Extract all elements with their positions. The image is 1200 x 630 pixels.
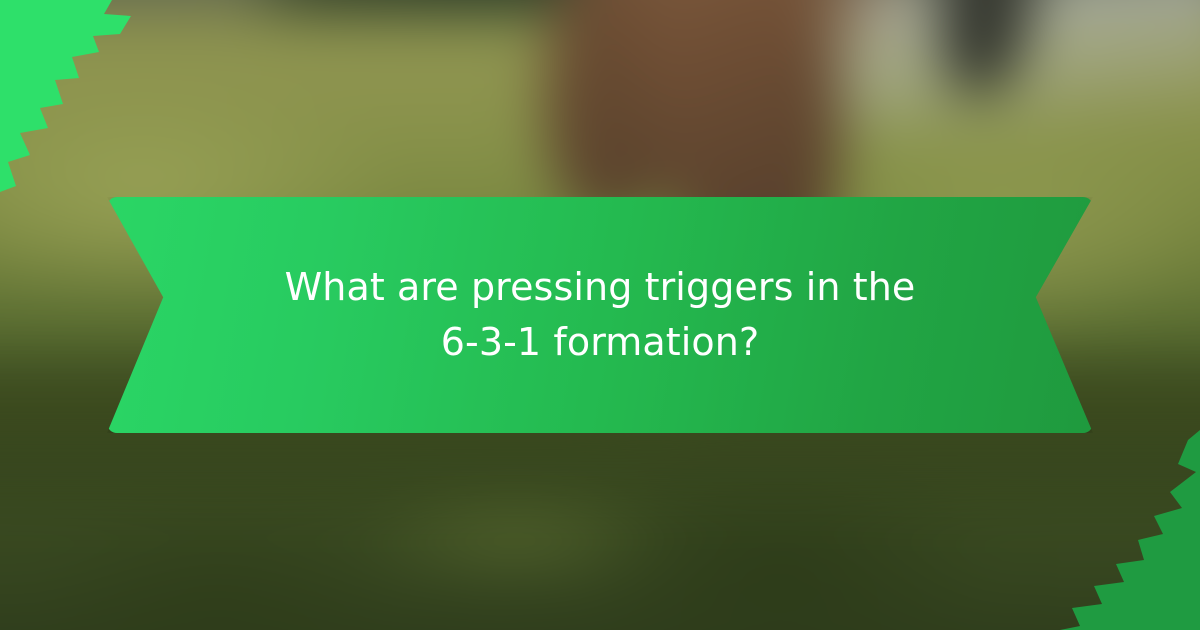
- background-foreground-highlight: [356, 490, 674, 585]
- question-card: What are pressing triggers in the 6-3-1 …: [0, 0, 1200, 630]
- background-runner-arm: [789, 0, 916, 77]
- background-foreground-shadow-a: [28, 511, 410, 630]
- question-ribbon-banner: What are pressing triggers in the 6-3-1 …: [107, 197, 1093, 433]
- question-text: What are pressing triggers in the 6-3-1 …: [250, 260, 950, 370]
